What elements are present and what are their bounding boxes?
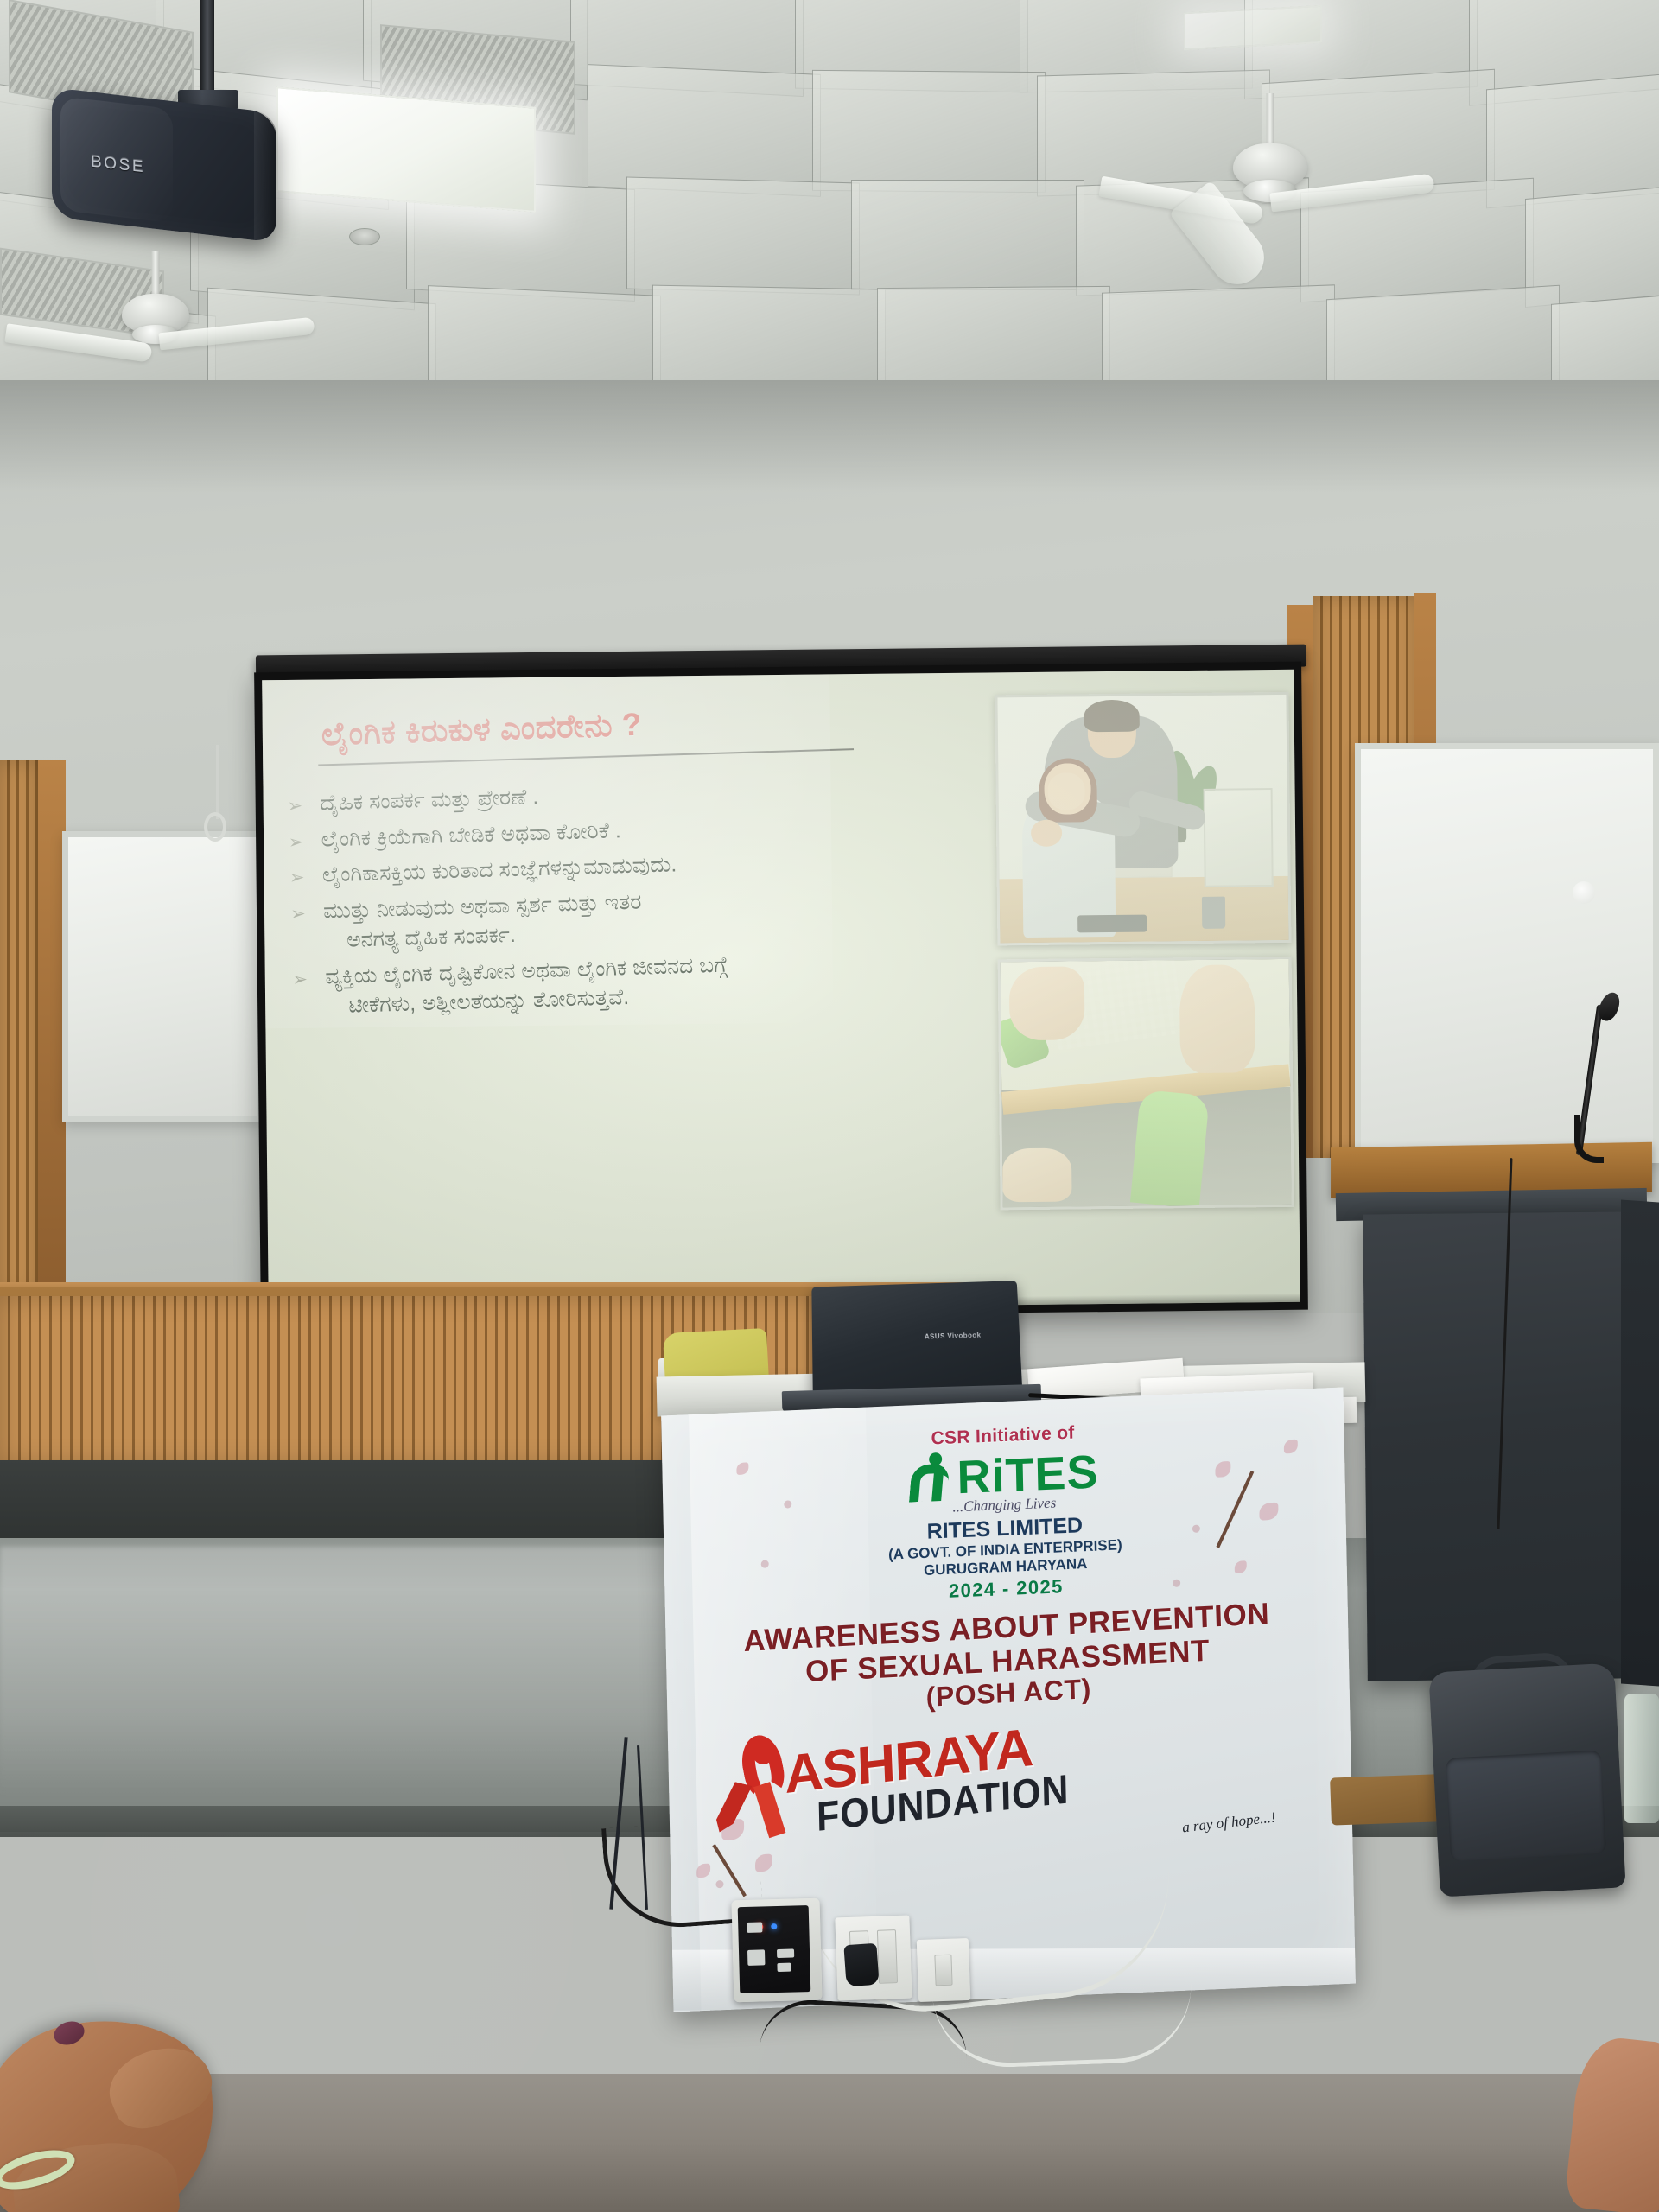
rites-wordmark: RiTES [957,1452,1099,1501]
wood-trim [35,760,66,1296]
screen-cord-ring [204,812,226,842]
slide-title: ಲೈಂಗಿಕ ಕಿರುಕುಳ ಎಂದರೇನು ? [321,699,874,753]
podium-body [1363,1211,1627,1681]
backpack-pocket [1446,1750,1606,1861]
office-harassment-photo [995,692,1291,946]
whiteboard-glare [1573,881,1595,904]
usb-port-icon[interactable] [747,1922,762,1932]
power-outlet-box[interactable] [731,1898,822,2003]
bullet-text: ಲೈಂಗಿಕ ಕ್ರಿಯೆಗಾಗಿ ಬೇಡಿಕೆ ಅಥವಾ ಕೋರಿಕೆ . [321,816,621,855]
slide-bullet-list: ➢ ದೈಹಿಕ ಸಂಪರ್ಕ ಮತ್ತು ಪ್ರೇರಣೆ . ➢ ಲೈಂಗಿಕ … [287,772,899,1028]
light-switch[interactable] [877,1929,898,1984]
switch-plate-single[interactable] [917,1938,970,2002]
light-switch[interactable] [934,1955,952,1986]
list-item: ➢ ಮುತ್ತು ನೀಡುವುದು ಅಥವಾ ಸ್ಪರ್ಶ ಮತ್ತು ಇತರ … [290,879,897,957]
bose-ceiling-speaker [52,87,276,243]
bullet-arrow-icon: ➢ [290,897,308,924]
power-plug[interactable] [843,1943,879,1987]
power-led-blue [771,1923,777,1929]
ceiling-fan [52,251,259,354]
ceiling-light-panel [1184,5,1322,50]
slide-surface: ಲೈಂಗಿಕ ಕಿರುಕುಳ ಎಂದರೇನು ? ➢ ದೈಹಿಕ ಸಂಪರ್ಕ … [262,670,1300,1313]
bullet-arrow-icon: ➢ [292,963,310,989]
projector-screen[interactable]: ಲೈಂಗಿಕ ಕಿರುಕುಳ ಎಂದರೇನು ? ➢ ದೈಹಿಕ ಸಂಪರ್ಕ … [254,662,1308,1321]
aux-port-icon[interactable] [777,1963,791,1972]
ceiling-fan [1149,93,1391,257]
bullet-text: ದೈಹಿಕ ಸಂಪರ್ಕ ಮತ್ತು ಪ್ರೇರಣೆ . [320,782,539,818]
podium-side-panel [1621,1199,1659,1686]
network-port-icon[interactable] [747,1949,765,1966]
list-item: ➢ ವ್ಯಕ್ತಿಯ ಲೈಂಗಿಕ ದೃಷ್ಟಿಕೋನ ಅಥವಾ ಲೈಂಗಿಕ … [292,944,899,1022]
water-bottle[interactable] [1624,1694,1659,1823]
screen-pull-cord [216,745,219,819]
bullet-text: ಮುತ್ತು ನೀಡುವುದು ಅಥವಾ ಸ್ಪರ್ಶ ಮತ್ತು ಇತರ ಅನ… [323,887,643,956]
front-floor [0,2074,1659,2212]
bullet-line-2: ಅನಗತ್ಯ ದೈಹಿಕ ಸಂಪರ್ಕ. [324,917,643,956]
wooden-slat-panel [0,760,38,1296]
rites-mark-icon [908,1452,954,1502]
bullet-arrow-icon: ➢ [287,789,305,816]
bullet-arrow-icon: ➢ [288,825,306,852]
smoke-detector-icon [349,228,380,245]
bullet-arrow-icon: ➢ [289,861,307,887]
hands-keyboard-photo [998,957,1294,1211]
banner-heading: AWARENESS ABOUT PREVENTION OF SEXUAL HAR… [696,1594,1319,1726]
bullet-text: ವ್ಯಕ್ತಿಯ ಲೈಂಗಿಕ ದೃಷ್ಟಿಕೋನ ಅಥವಾ ಲೈಂಗಿಕ ಜೀ… [325,950,729,1021]
bullet-line-1: ಮುತ್ತು ನೀಡುವುದು ಅಥವಾ ಸ್ಪರ್ಶ ಮತ್ತು ಇತರ [323,889,642,923]
bullet-text: ಲೈಂಗಿಕಾಸಕ್ತಿಯ ಕುರಿತಾದ ಸಂಜ್ಞೆಗಳನ್ನುಮಾಡುವು… [321,849,677,890]
outlet-face-plate [738,1905,811,1993]
wall-shadow [0,380,1659,493]
speaker-mount-pole [200,0,214,104]
laptop-screen[interactable]: ASUS Vivobook [811,1281,1022,1397]
ceiling-light-panel [276,86,536,213]
laptop-brand-badge: ASUS Vivobook [925,1332,982,1341]
ashraya-foundation-logo: ASHRAYA FOUNDATION a ray of hope...! [699,1710,1322,1866]
hdmi-port-icon[interactable] [777,1948,794,1958]
whiteboard-left [62,831,263,1122]
ashraya-tagline: a ray of hope...! [1182,1809,1277,1837]
seminar-hall-photo: BOSE ಲೈಂಗಿಕ ಕಿರುಕುಳ ಎಂದರೇನು ? [0,0,1659,2212]
whiteboard-right [1355,743,1659,1163]
